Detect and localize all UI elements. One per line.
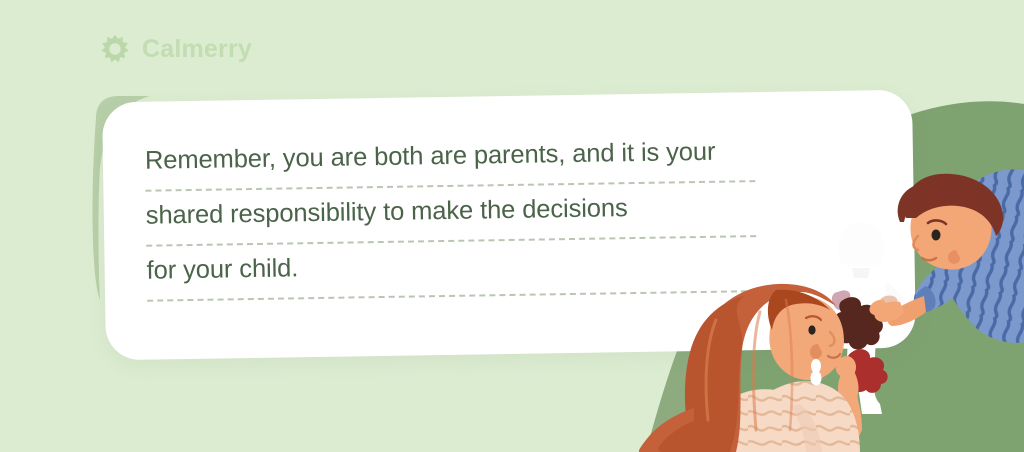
brand-name: Calmerry (142, 34, 252, 64)
brand-logo[interactable]: Calmerry (100, 34, 252, 64)
banner-canvas: Calmerry Remember, you are both are pare… (0, 0, 1024, 452)
quote-card-body: Remember, you are both are parents, and … (102, 90, 916, 361)
flower-star-icon (100, 34, 130, 64)
quote-card: Remember, you are both are parents, and … (102, 90, 916, 361)
quote-line-text: Remember, you are both are parents, and … (145, 132, 913, 178)
